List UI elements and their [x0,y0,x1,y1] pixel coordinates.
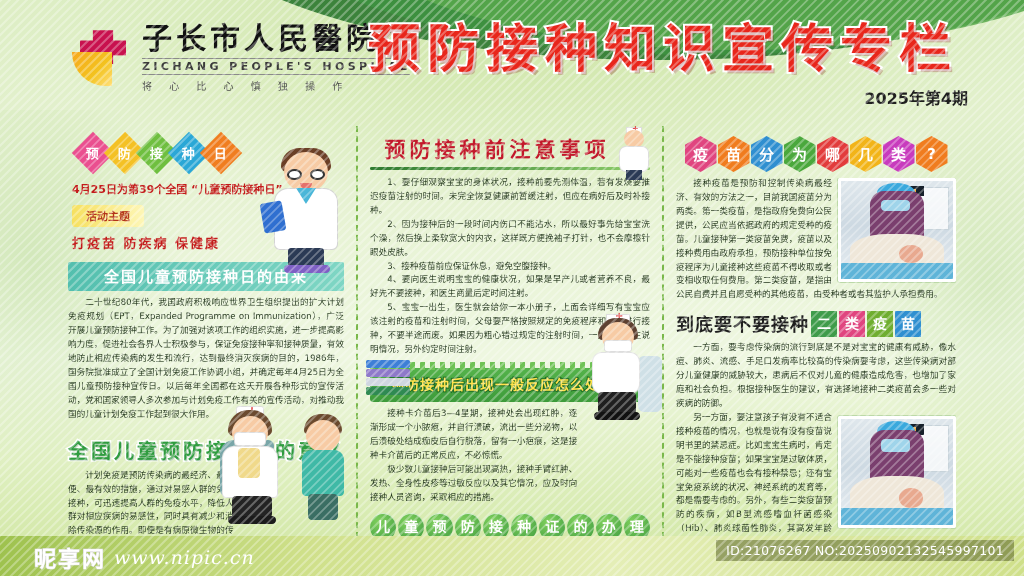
cat-char-2: 分 [759,144,774,165]
column-left: 预 防 接 种 日 4月25日为第39个全国 “儿童预防接种日” 活动主题 打疫… [56,126,356,538]
nurse-feeding-newborn-photo [838,416,956,528]
cat-char-4: 哪 [825,144,840,165]
watermark: 昵享网 www.nipic.cn [34,542,255,574]
heading-rule [370,167,650,170]
cert-char-1: 童 [404,517,418,537]
id-tag: ID:21076267 NO:20250902132545997101 [716,540,1014,561]
day-char-2: 接 [150,143,163,162]
cat-char-6: 类 [891,144,906,165]
cat-char-1: 苗 [726,144,741,165]
watermark-url: www.nipic.cn [114,547,255,569]
watermark-cn: 昵享网 [34,542,106,574]
cert-char-6: 证 [545,517,559,537]
cat-char-3: 为 [792,144,807,165]
cert-char-7: 的 [574,517,588,537]
nurse-icon [614,130,654,180]
issue-label: 2025年第4期 [368,85,988,109]
newborn-vaccination-photo [838,178,956,282]
doctor-illustration-icon [264,152,350,272]
sq-char-2: 疫 [873,314,887,334]
sq-char-3: 苗 [901,314,915,334]
hospital-logo: 子长市人民醫院 ZICHANG PEOPLE'S HOSPITAL 将 心 比 … [72,24,410,93]
page-title: 预防接种知识宣传专栏 [368,22,988,79]
reaction-item-0: 接种卡介苗后3—4星期，接种处会出现红肿，逐渐形成一个小脓疱，并自行溃破，流出一… [370,408,577,464]
day-char-3: 种 [182,143,195,162]
sitting-nurse-icon [580,322,658,432]
day-char-4: 日 [214,143,227,162]
cert-char-0: 儿 [376,517,390,537]
footer-bar: 昵享网 www.nipic.cn ID:21076267 NO:20250902… [0,536,1024,576]
second-heading-text: 到底要不要接种 [676,311,809,337]
notice-item-0: 1、要仔细观察宝宝的身体状况，接种前要先测体温，若有发烧要推迟疫苗注射的时间。未… [370,177,650,219]
day-char-1: 防 [118,143,131,162]
notice-item-1: 2、因为接种后的一段时间内伤口不能沾水，所以最好事先给宝宝洗个澡，然后换上柔软宽… [370,219,650,261]
column-middle: 预防接种前注意事项 1、要仔细观察宝宝的身体状况，接种前要先测体温，若有发烧要推… [356,126,664,538]
cat-char-5: 几 [858,144,873,165]
second-paragraph-1: 一方面，要考虑传染病的流行到底是不是对宝宝的健康有威胁，像水痘、肺炎、流感、手足… [676,342,956,412]
category-heading: 疫 苗 分 为 哪 几 类 ? [676,136,956,172]
cert-char-4: 接 [489,517,503,537]
sq-char-1: 类 [845,314,859,334]
day-char-0: 预 [86,143,99,162]
notice-item-2: 3、接种疫苗前应保证休息，避免空腹接种。 [370,261,650,275]
notice-item-3: 4、要向医生说明宝宝的健康状况，如果是早产儿或者营养不良，最好先不要接种，和医生… [370,274,650,302]
column-right: 疫 苗 分 为 哪 几 类 ? 接种疫苗是预防和控制传染病最经济、有效的方法之一… [664,126,968,538]
cert-char-8: 办 [602,517,616,537]
stack-of-books-icon [366,360,412,398]
origin-paragraph: 二十世纪80年代，我国政府积极响应世界卫生组织提出的扩大计划免疫规划（EPT，E… [68,297,344,422]
cross-logo-icon [72,30,132,86]
reaction-item-1: 极少数儿童接种后可能出现高热，接种手臂红肿、发热、全身性皮疹等过敏反应以及其它情… [370,464,577,506]
notice-heading: 预防接种前注意事项 [370,134,650,164]
cert-char-9: 理 [630,517,644,537]
sq-char-0: 二 [817,314,831,334]
cat-char-7: ? [927,145,936,163]
content-board: 预 防 接 种 日 4月25日为第39个全国 “儿童预防接种日” 活动主题 打疫… [56,126,968,538]
cat-char-0: 疫 [693,144,708,165]
title-block: 预防接种知识宣传专栏 2025年第4期 [368,22,988,109]
second-heading: 到底要不要接种 二 类 疫 苗 [676,311,956,337]
poster-header: 子长市人民醫院 ZICHANG PEOPLE'S HOSPITAL 将 心 比 … [0,0,1024,122]
poster-background: 子长市人民醫院 ZICHANG PEOPLE'S HOSPITAL 将 心 比 … [0,0,1024,576]
cert-char-5: 种 [517,517,531,537]
cert-char-2: 预 [432,517,446,537]
nurse-vaccinating-child-icon [214,410,354,530]
theme-pill-label: 活动主题 [72,205,144,227]
cert-char-3: 防 [461,517,475,537]
